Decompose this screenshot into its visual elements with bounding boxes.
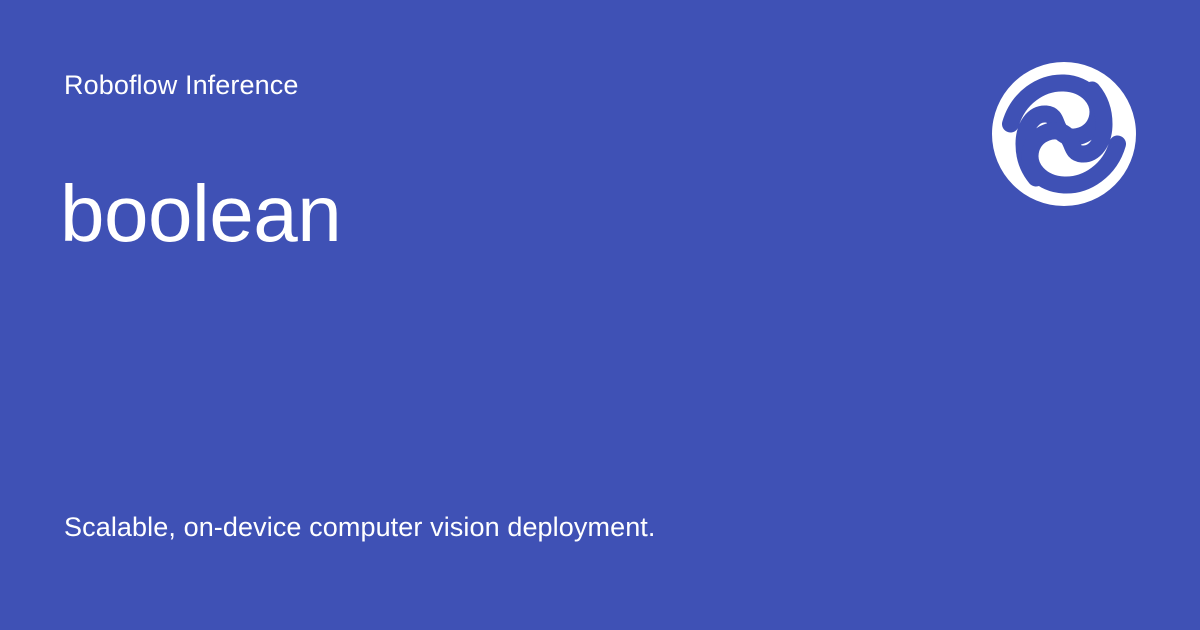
page-title: boolean (60, 166, 341, 262)
card-text-block: Roboflow Inference boolean Scalable, on-… (64, 0, 964, 630)
og-card: Roboflow Inference boolean Scalable, on-… (0, 0, 1200, 630)
roboflow-logo (992, 62, 1136, 206)
roboflow-logo-icon (992, 62, 1136, 206)
tagline: Scalable, on-device computer vision depl… (64, 508, 656, 546)
product-name: Roboflow Inference (64, 66, 298, 104)
